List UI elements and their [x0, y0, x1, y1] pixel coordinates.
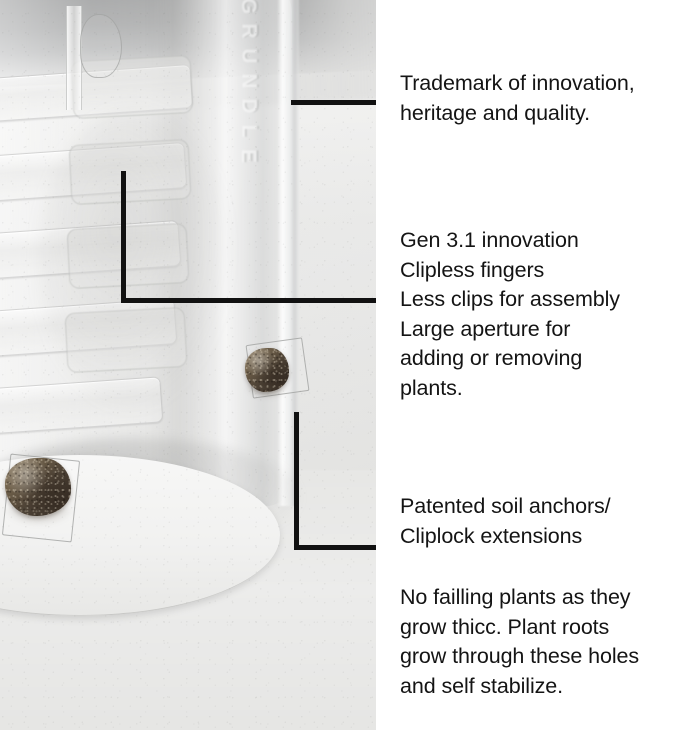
callout-trademark: Trademark of innovation, heritage and qu…: [400, 69, 678, 128]
leader-line-soil-anchors-horizontal: [294, 545, 385, 550]
leader-line-trademark: [291, 100, 385, 105]
callout-soil-anchors: Patented soil anchors/ Cliplock extensio…: [400, 492, 678, 551]
leader-line-soil-anchors-vertical: [294, 412, 299, 550]
leader-line-clipless-fingers-horizontal: [121, 298, 385, 303]
product-feature-callout-image: G R U N D L E Trademark of: [0, 0, 679, 730]
photo-paper-grain: [0, 0, 376, 730]
callout-no-falling-plants: No failling plants as they grow thicc. P…: [400, 583, 678, 701]
callout-clipless-fingers: Gen 3.1 innovation Clipless fingers Less…: [400, 226, 678, 403]
product-photo: G R U N D L E: [0, 0, 376, 730]
callout-text-panel: Trademark of innovation, heritage and qu…: [376, 0, 679, 730]
leader-line-clipless-fingers-vertical: [121, 171, 126, 303]
